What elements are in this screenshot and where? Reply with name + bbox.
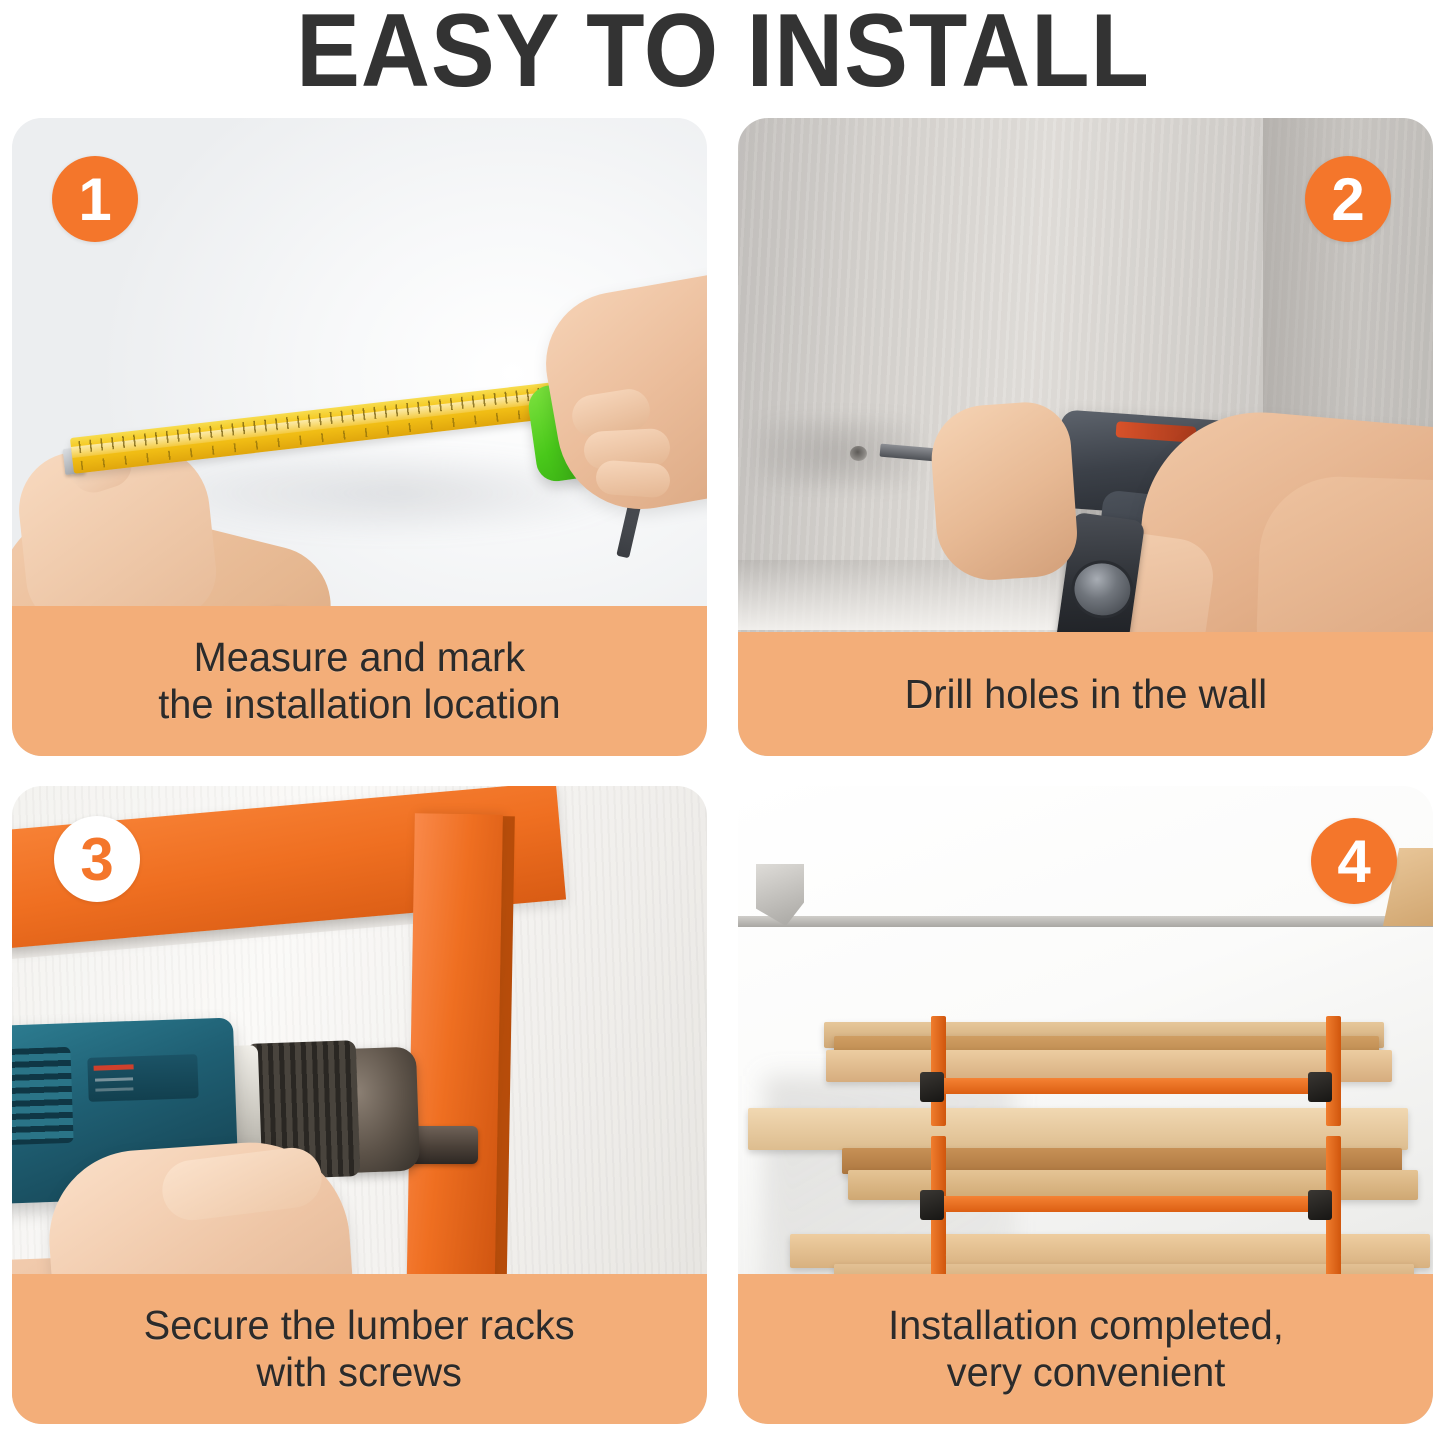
upper-wall-rail (738, 916, 1433, 927)
bracket-upright-1a (931, 1016, 946, 1126)
step-caption-4-line2: very convenient (946, 1349, 1225, 1395)
drilled-hole (850, 446, 867, 461)
step-card-4[interactable]: 4 Installation completed, very convenien… (738, 786, 1433, 1424)
page-title-bar: EASY TO INSTALL (0, 0, 1445, 112)
drill-vents (12, 1047, 74, 1145)
bracket-arm-1 (924, 1078, 1332, 1094)
page-title: EASY TO INSTALL (296, 4, 1150, 100)
step-caption-4-text: Installation completed, very convenient (874, 1302, 1297, 1395)
bracket-upright-1b (1326, 1016, 1341, 1126)
step-caption-4-line1: Installation completed, (888, 1302, 1284, 1348)
lumber-board-2a (748, 1108, 1408, 1150)
right-finger-3 (595, 459, 671, 498)
step-caption-1-line1: Measure and mark (194, 634, 526, 680)
step-caption-1-line2: the installation location (158, 681, 560, 727)
bracket-cap-2b (1308, 1190, 1332, 1220)
step-caption-1: Measure and mark the installation locati… (12, 606, 707, 756)
step-caption-3-text: Secure the lumber racks with screws (130, 1302, 588, 1395)
step-card-3[interactable]: 3 Secure the lumber racks with screws (12, 786, 707, 1424)
bracket-cap-1b (1308, 1072, 1332, 1102)
install-steps-grid: 1 Measure and mark the installation loca… (12, 118, 1433, 1424)
step-caption-3-line1: Secure the lumber racks (144, 1302, 575, 1348)
step-caption-3: Secure the lumber racks with screws (12, 1274, 707, 1424)
pointing-hand (928, 399, 1080, 583)
drill-label (87, 1054, 198, 1102)
step-card-1[interactable]: 1 Measure and mark the installation loca… (12, 118, 707, 756)
step-badge-1: 1 (52, 156, 138, 242)
step-caption-3-line2: with screws (257, 1349, 463, 1395)
step-badge-3: 3 (54, 816, 140, 902)
bracket-cap-1a (920, 1072, 944, 1102)
step-card-2[interactable]: 2 Drill holes in the wall (738, 118, 1433, 756)
step-caption-2: Drill holes in the wall (738, 632, 1433, 756)
bracket-cap-2a (920, 1190, 944, 1220)
step-badge-4: 4 (1311, 818, 1397, 904)
step-caption-2-text: Drill holes in the wall (891, 671, 1281, 718)
step-caption-4: Installation completed, very convenient (738, 1274, 1433, 1424)
step-caption-1-text: Measure and mark the installation locati… (145, 634, 575, 727)
step-badge-2: 2 (1305, 156, 1391, 242)
bracket-arm-2 (924, 1196, 1332, 1212)
